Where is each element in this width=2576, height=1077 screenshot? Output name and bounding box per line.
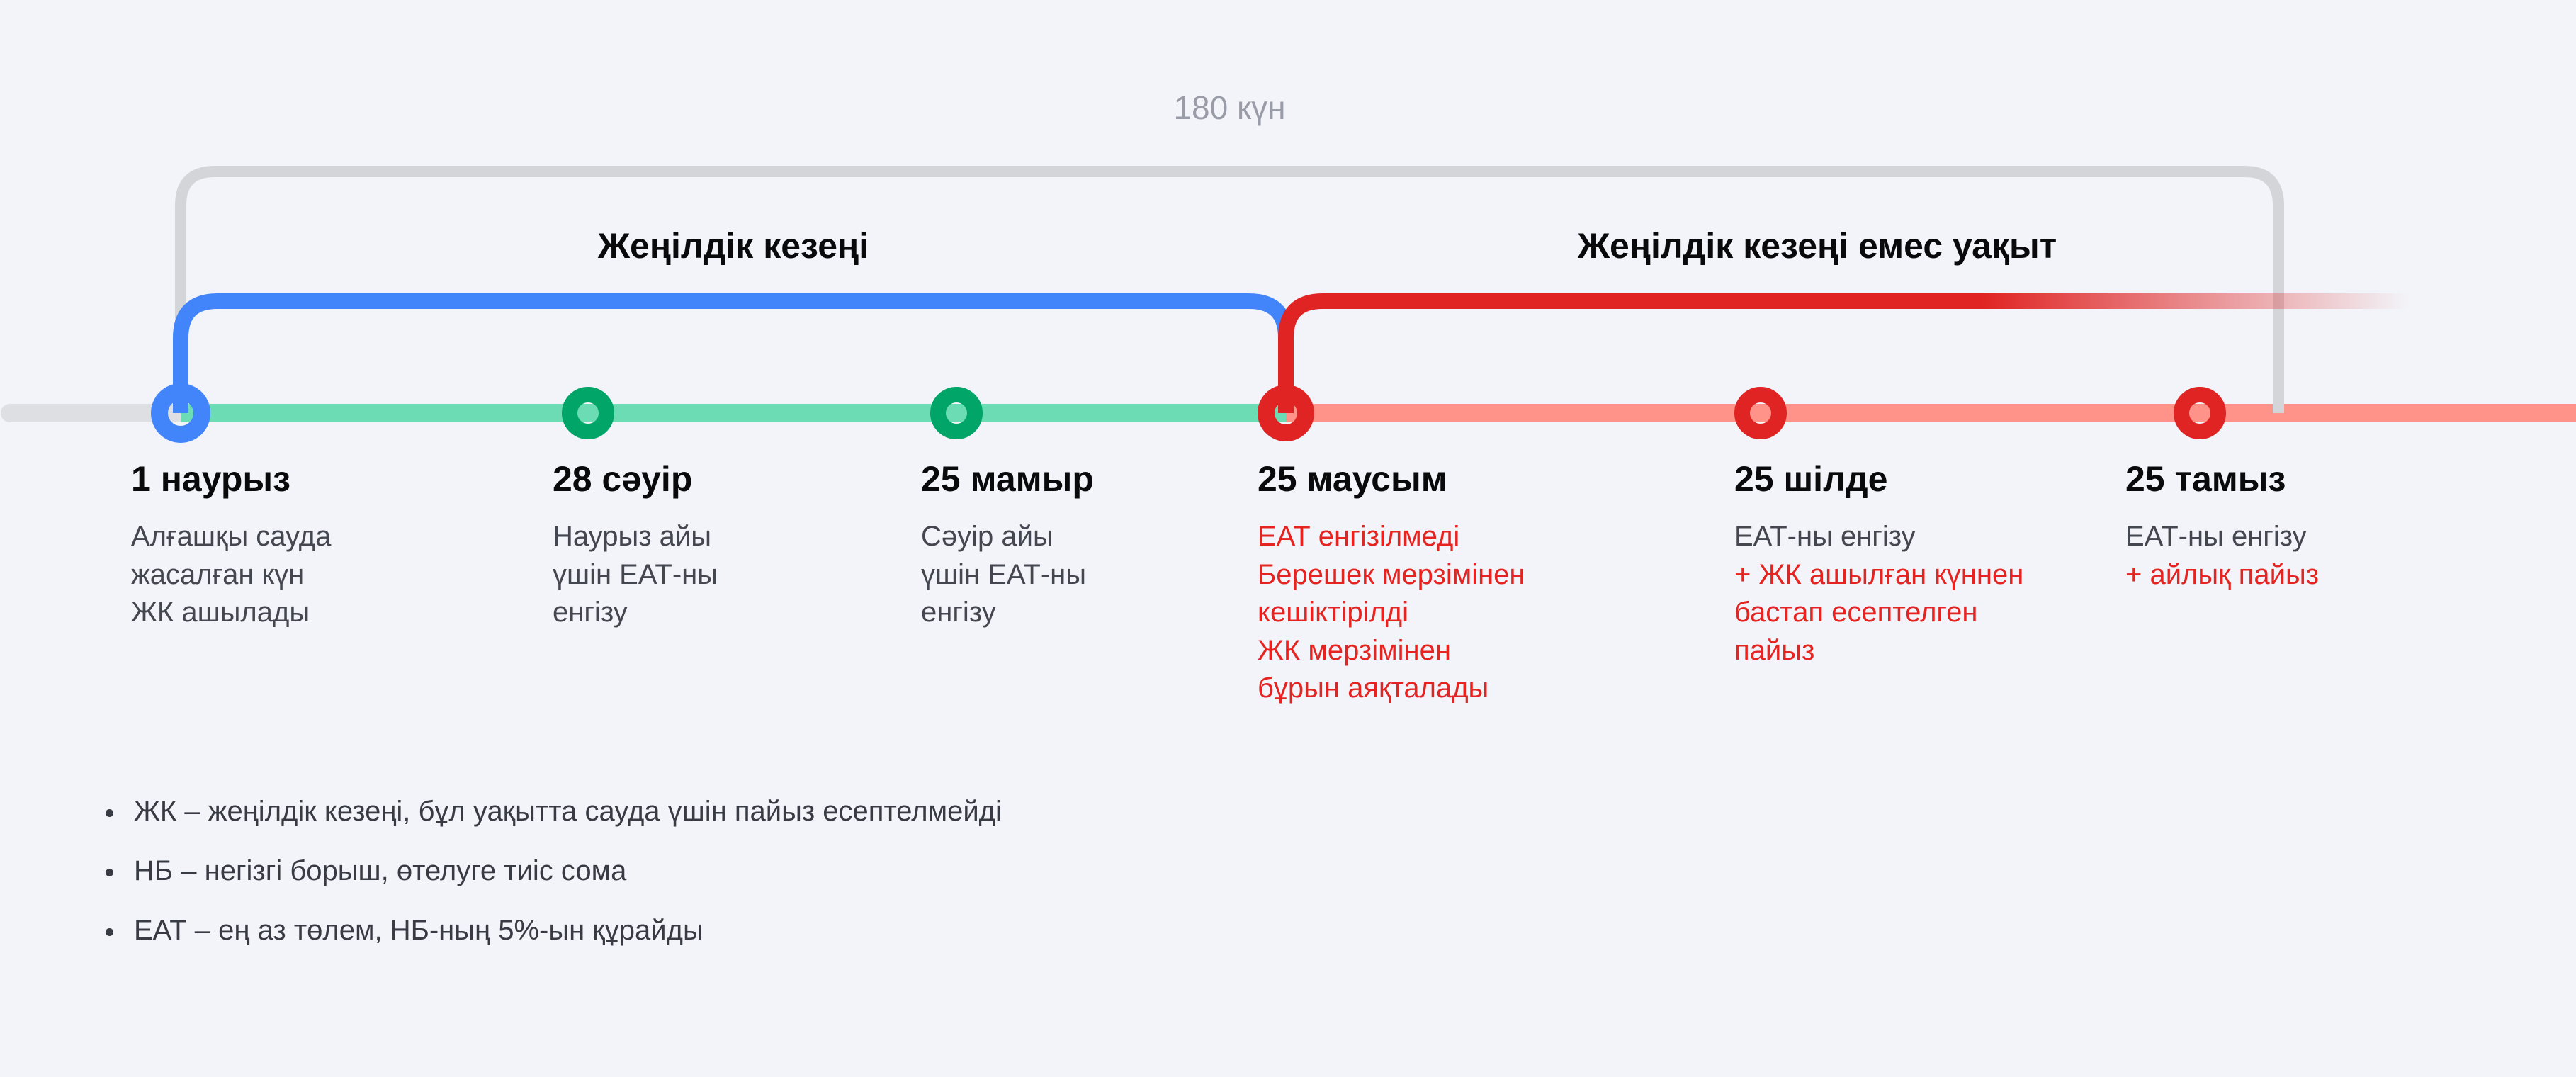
node-marker-may-25[interactable]	[938, 395, 975, 432]
node-label-aug-25: 25 тамыз ЕАТ-ны енгізу + айлық пайыз	[2125, 461, 2494, 594]
duration-label: 180 күн	[1173, 89, 1285, 126]
node-markers	[159, 392, 2218, 434]
bracket-grace-period	[181, 301, 1286, 413]
node-desc-line: кешіктірілді	[1258, 594, 1626, 632]
node-desc-line: пайыз	[1734, 632, 2131, 670]
node-marker-jul-25[interactable]	[1742, 395, 1779, 432]
node-label-jul-25: 25 шілде ЕАТ-ны енгізу + ЖК ашылған күнн…	[1734, 461, 2131, 670]
node-date: 25 маусым	[1258, 461, 1626, 498]
bracket-180-days	[181, 171, 2278, 413]
node-desc-line: ЕАТ енгізілмеді	[1258, 518, 1626, 556]
node-label-mar-01: 1 наурыз Алғашқы сауда жасалған күн ЖК а…	[131, 461, 457, 632]
node-desc-line: үшін ЕАТ-ны	[921, 556, 1247, 594]
node-desc-line: Сәуір айы	[921, 518, 1247, 556]
legend-item: ЖК – жеңілдік кезеңі, бұл уақытта сауда …	[96, 797, 1002, 825]
node-label-apr-28: 28 сәуір Наурыз айы үшін ЕАТ-ны енгізу	[553, 461, 879, 632]
timeline-diagram: 180 күн Жеңілдік кезеңі Жеңілдік кезеңі …	[0, 0, 2576, 1077]
node-date: 28 сәуір	[553, 461, 879, 498]
node-desc-line: ЖК мерзімінен	[1258, 632, 1626, 670]
node-desc-line: үшін ЕАТ-ны	[553, 556, 879, 594]
node-desc-line: Берешек мерзімінен	[1258, 556, 1626, 594]
node-desc-line: бастап есептелген	[1734, 594, 2131, 632]
node-desc-line: ЕАТ-ны енгізу	[2125, 518, 2494, 556]
duration-label-wrapper: 180 күн	[181, 89, 2278, 127]
node-date: 25 тамыз	[2125, 461, 2494, 498]
legend-item: НБ – негізгі борыш, өтелуге тиіс сома	[96, 857, 1002, 885]
node-desc-line: енгізу	[553, 594, 879, 632]
legend-item: ЕАТ – ең аз төлем, НБ-ның 5%-ын құрайды	[96, 916, 1002, 945]
node-date: 25 мамыр	[921, 461, 1247, 498]
node-date: 1 наурыз	[131, 461, 457, 498]
node-desc-line: бұрын аяқталады	[1258, 670, 1626, 708]
phase-heading-non-grace: Жеңілдік кезеңі емес уақыт	[1286, 225, 2349, 266]
node-desc-line: + ЖК ашылған күннен	[1734, 556, 2131, 594]
node-desc-line: Алғашқы сауда	[131, 518, 457, 556]
node-desc-line: енгізу	[921, 594, 1247, 632]
bracket-non-grace-period	[1286, 301, 2409, 413]
legend-list: ЖК – жеңілдік кезеңі, бұл уақытта сауда …	[96, 797, 1002, 945]
node-desc-line: ЕАТ-ны енгізу	[1734, 518, 2131, 556]
node-marker-aug-25[interactable]	[2181, 395, 2218, 432]
node-label-jun-25: 25 маусым ЕАТ енгізілмеді Берешек мерзім…	[1258, 461, 1626, 708]
node-marker-mar-01[interactable]	[159, 392, 202, 434]
phase-heading-grace: Жеңілдік кезеңі	[181, 225, 1286, 266]
node-date: 25 шілде	[1734, 461, 2131, 498]
node-desc-line: Наурыз айы	[553, 518, 879, 556]
node-desc-line: ЖК ашылады	[131, 594, 457, 632]
node-label-may-25: 25 мамыр Сәуір айы үшін ЕАТ-ны енгізу	[921, 461, 1247, 632]
node-desc-line: + айлық пайыз	[2125, 556, 2494, 594]
node-marker-apr-28[interactable]	[570, 395, 606, 432]
node-marker-jun-25[interactable]	[1266, 393, 1306, 433]
node-desc-line: жасалған күн	[131, 556, 457, 594]
